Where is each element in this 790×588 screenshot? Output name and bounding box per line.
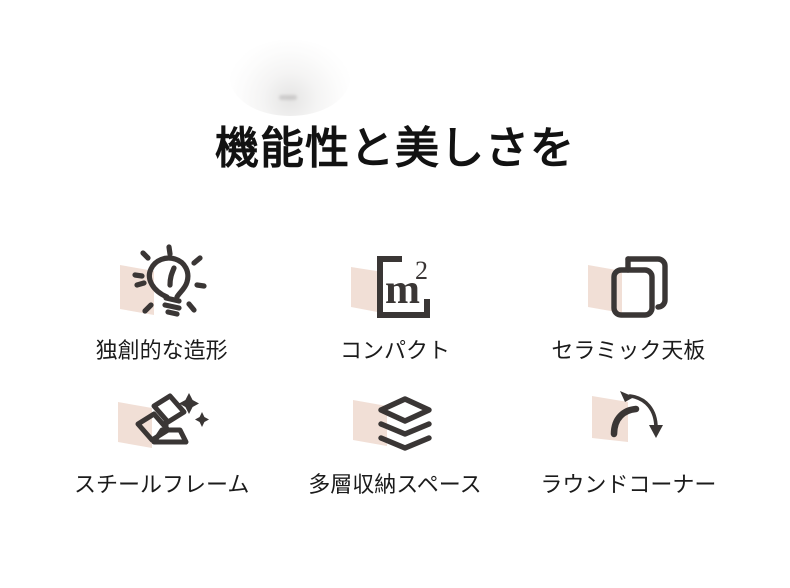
feature-item-round-corner: ラウンドコーナー bbox=[512, 380, 745, 505]
feature-label: ラウンドコーナー bbox=[540, 470, 716, 500]
svg-text:2: 2 bbox=[415, 256, 428, 285]
feature-label: 多層収納スペース bbox=[308, 470, 481, 500]
feature-item-steel-frame: スチールフレーム bbox=[45, 380, 278, 505]
feature-poster: 機能性と美しさを bbox=[0, 0, 790, 588]
metal-ingots-icon bbox=[106, 380, 218, 468]
background-halo-artifact bbox=[230, 40, 350, 116]
lightbulb-icon bbox=[106, 240, 218, 332]
feature-item-ceramic-top: セラミック天板 bbox=[512, 240, 745, 380]
feature-label: セラミック天板 bbox=[551, 336, 705, 366]
feature-item-original-design: 独創的な造形 bbox=[45, 240, 278, 380]
feature-label: 独創的な造形 bbox=[96, 336, 228, 366]
layers-icon bbox=[339, 380, 451, 468]
stacked-panels-icon bbox=[572, 240, 684, 332]
curved-arrows-icon bbox=[572, 380, 684, 468]
feature-item-multilayer-storage: 多層収納スペース bbox=[278, 380, 511, 505]
feature-label: スチールフレーム bbox=[74, 470, 249, 500]
page-title: 機能性と美しさを bbox=[0, 123, 790, 175]
feature-label: コンパクト bbox=[340, 336, 450, 366]
feature-item-compact: m 2 コンパクト bbox=[278, 240, 511, 380]
square-meter-icon: m 2 bbox=[339, 240, 451, 332]
background-smudge-artifact bbox=[279, 95, 297, 100]
feature-grid: 独創的な造形 m 2 コンパクト bbox=[45, 240, 745, 505]
